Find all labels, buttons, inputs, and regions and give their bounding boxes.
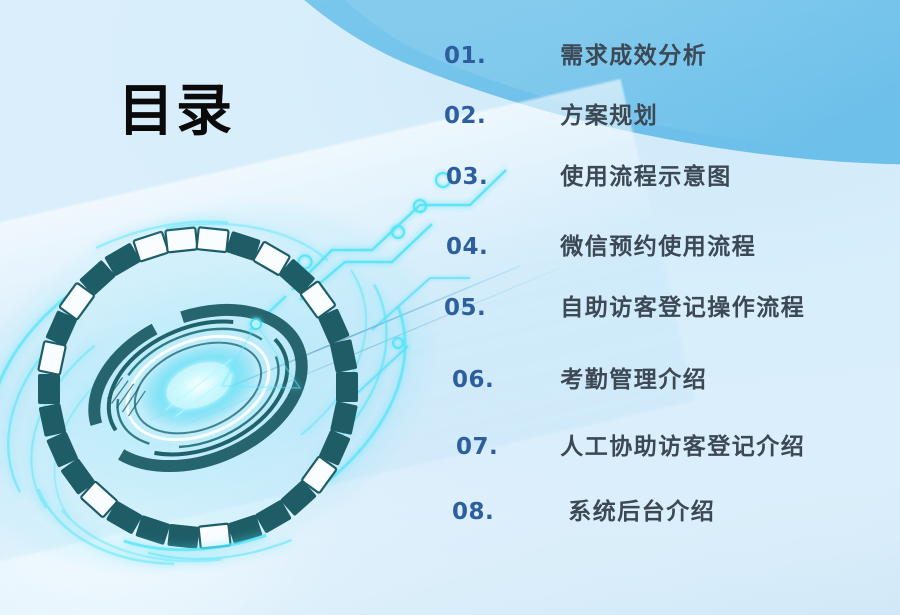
toc-label-05: 自助访客登记操作流程 (560, 288, 805, 322)
toc-item-04[interactable]: 04. 微信预约使用流程 (446, 227, 756, 261)
toc-number-01: 01. (444, 43, 486, 69)
toc-label-01: 需求成效分析 (560, 36, 707, 70)
toc-label-03: 使用流程示意图 (560, 157, 732, 191)
toc-item-07[interactable]: 07. 人工协助访客登记介绍 (456, 427, 805, 461)
toc-number-07: 07. (456, 434, 498, 460)
toc-number-05: 05. (444, 295, 486, 321)
page-title: 目录 (118, 84, 234, 140)
toc-number-06: 06. (452, 367, 494, 393)
toc-label-04: 微信预约使用流程 (560, 227, 756, 261)
toc-number-02: 02. (444, 103, 486, 129)
toc-number-04: 04. (446, 234, 488, 260)
toc-item-03[interactable]: 03. 使用流程示意图 (446, 157, 732, 191)
toc-label-06: 考勤管理介绍 (560, 360, 707, 394)
toc-item-05[interactable]: 05. 自助访客登记操作流程 (444, 288, 805, 322)
toc-label-02: 方案规划 (560, 96, 658, 130)
toc-item-08[interactable]: 08. 系统后台介绍 (452, 492, 715, 526)
toc-label-07: 人工协助访客登记介绍 (560, 427, 805, 461)
toc-number-03: 03. (446, 164, 488, 190)
table-of-contents: 01. 需求成效分析 02. 方案规划 03. 使用流程示意图 04. 微信预约… (436, 0, 900, 615)
slide-root: 目录 01. 需求成效分析 02. 方案规划 03. 使用流程示意图 04. 微… (0, 0, 900, 615)
toc-item-06[interactable]: 06. 考勤管理介绍 (452, 360, 707, 394)
tech-orbit-ring-graphic (0, 150, 480, 615)
toc-number-08: 08. (452, 499, 494, 525)
toc-label-08: 系统后台介绍 (568, 492, 715, 526)
toc-item-01[interactable]: 01. 需求成效分析 (444, 36, 707, 70)
toc-item-02[interactable]: 02. 方案规划 (444, 96, 658, 130)
